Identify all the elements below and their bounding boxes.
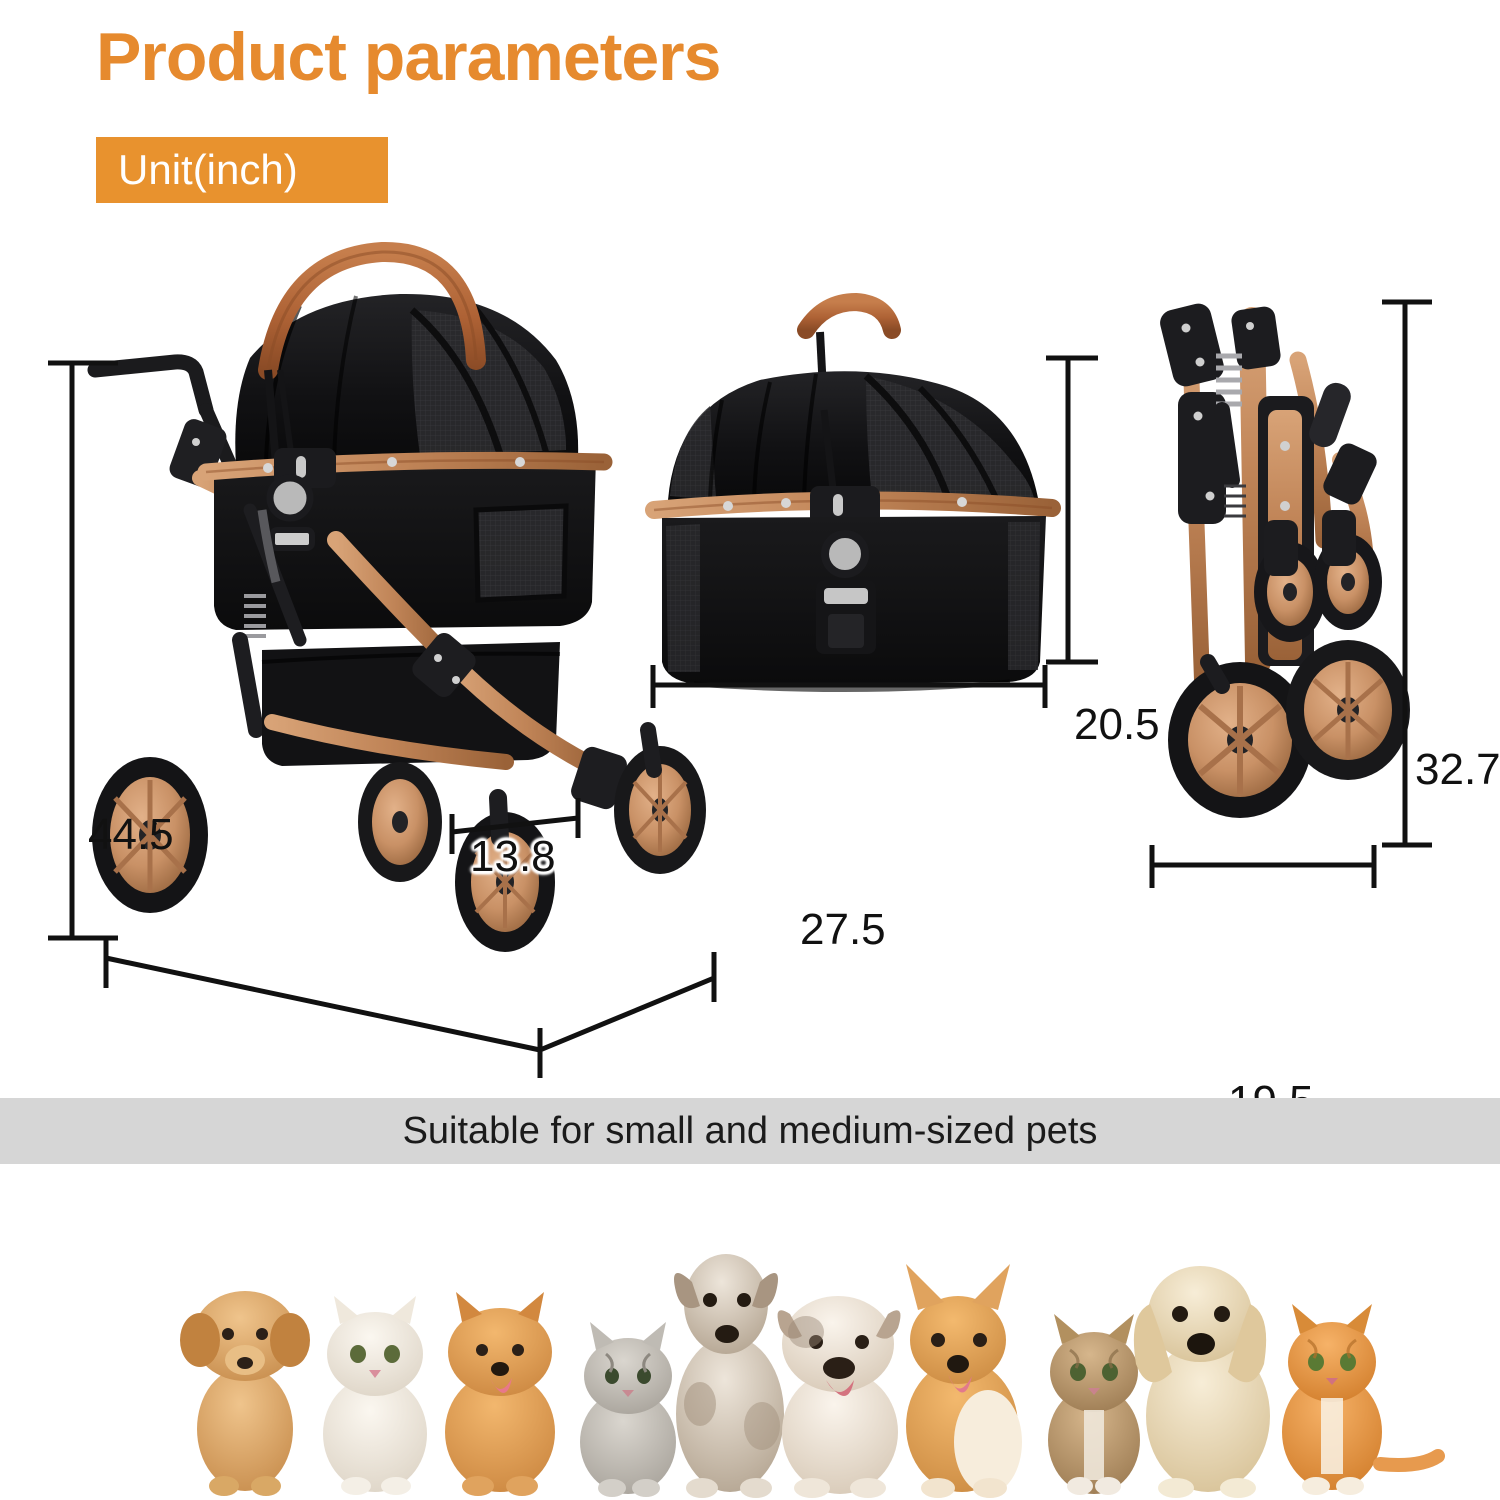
unit-badge-label: Unit(inch): [118, 146, 298, 194]
pet-brown-tabby-kitten: [1048, 1314, 1140, 1495]
dimension-label-folded-height: 32.7: [1415, 745, 1500, 795]
view-stroller-folded: [1157, 301, 1410, 818]
dimension-label-carrier-width: 27.5: [800, 905, 886, 955]
pet-orange-kitten: [1282, 1304, 1438, 1495]
pet-bulldog-puppy: [778, 1296, 901, 1498]
pet-cocker-spaniel-puppy: [1134, 1266, 1270, 1498]
pets-photo-strip: [0, 1164, 1500, 1500]
dimension-label-interior-width: 13.8: [470, 832, 556, 882]
stroller-assembled-illustration: [0, 210, 1500, 1090]
pet-corgi-puppy: [906, 1264, 1022, 1498]
dimension-label-carrier-height: 20.5: [1074, 700, 1160, 750]
unit-badge: Unit(inch): [96, 137, 388, 203]
page-title: Product parameters: [96, 22, 720, 93]
product-dimension-diagram: 44.5 13.8 40 27 20.5 27.5 32.7 19.5: [0, 210, 1500, 1090]
dimension-label-height: 44.5: [88, 810, 174, 860]
pet-toy-poodle: [180, 1291, 310, 1496]
front-wheel-right: [614, 730, 706, 874]
pet-pomeranian: [445, 1292, 555, 1496]
rear-wheel-right: [358, 762, 442, 882]
pet-gray-tabby-kitten: [580, 1322, 676, 1497]
view-carrier-detached: [654, 302, 1052, 690]
suitability-banner-text: Suitable for small and medium-sized pets: [403, 1110, 1098, 1153]
view-assembled: [92, 252, 706, 952]
suitability-banner: Suitable for small and medium-sized pets: [0, 1098, 1500, 1164]
folded-wheel-rear: [1286, 640, 1410, 780]
pets-illustration: [0, 1164, 1500, 1500]
pet-persian-kitten-white: [323, 1296, 427, 1495]
pet-whippet-puppy: [674, 1254, 784, 1498]
